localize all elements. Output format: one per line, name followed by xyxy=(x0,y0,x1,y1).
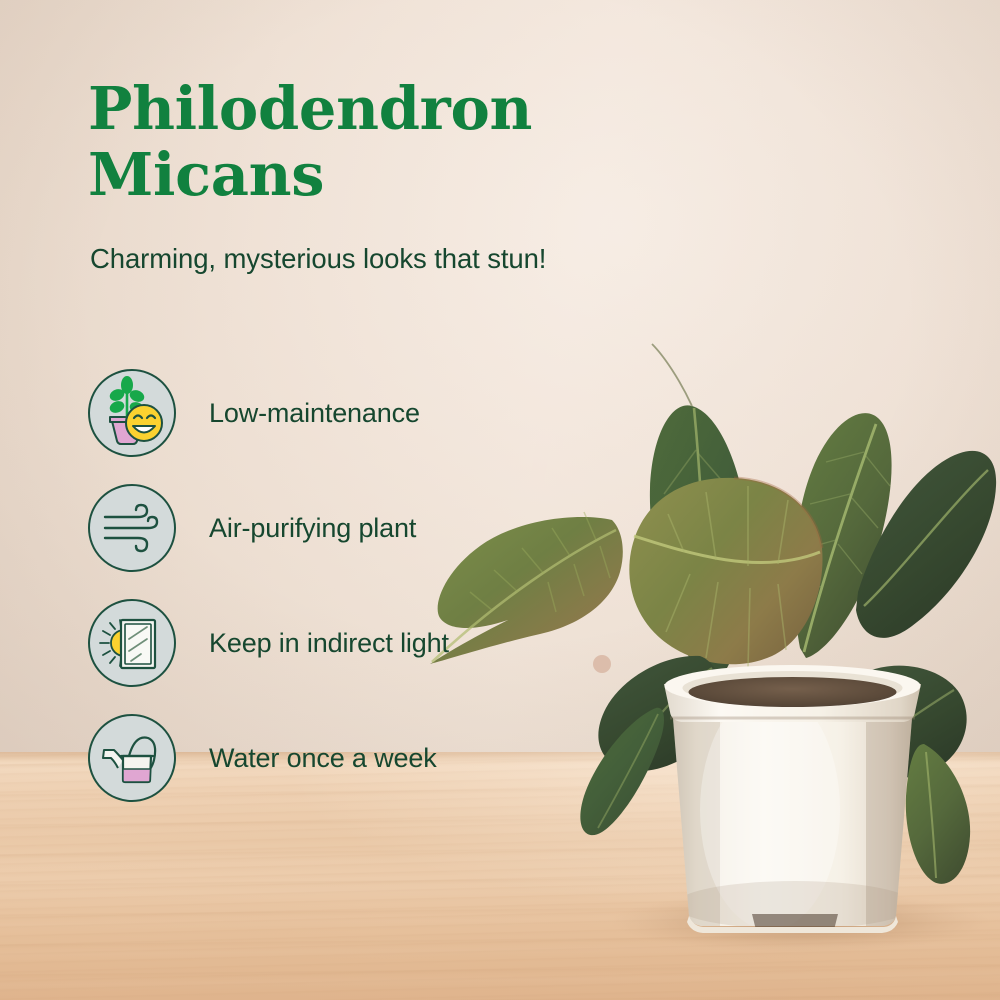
page-title: Philodendron Micans xyxy=(88,76,628,208)
feature-label: Keep in indirect light xyxy=(209,628,449,659)
product-card: Philodendron Micans Charming, mysterious… xyxy=(0,0,1000,1000)
feature-row-air-purifying: Air-purifying plant xyxy=(88,484,528,572)
smiley-face xyxy=(126,405,162,441)
wind-line-middle xyxy=(105,517,157,528)
can-spout xyxy=(103,750,123,768)
can-water-level xyxy=(123,769,151,782)
wind-icon xyxy=(88,484,176,572)
feature-row-low-maintenance: Low-maintenance xyxy=(88,369,528,457)
leaf xyxy=(108,399,126,415)
feature-label: Low-maintenance xyxy=(209,398,420,429)
page-subtitle: Charming, mysterious looks that stun! xyxy=(90,243,710,275)
watering-can-icon xyxy=(88,714,176,802)
wind-line-bottom xyxy=(105,538,147,551)
feature-row-watering: Water once a week xyxy=(88,714,528,802)
plant-smiley-icon xyxy=(88,369,176,457)
feature-label: Water once a week xyxy=(209,743,437,774)
feature-list: Low-maintenance Air-purifying plant xyxy=(88,369,528,802)
feature-label: Air-purifying plant xyxy=(209,513,416,544)
feature-row-indirect-light: Keep in indirect light xyxy=(88,599,528,687)
wind-line-top xyxy=(105,505,147,517)
sun-window-icon xyxy=(88,599,176,687)
